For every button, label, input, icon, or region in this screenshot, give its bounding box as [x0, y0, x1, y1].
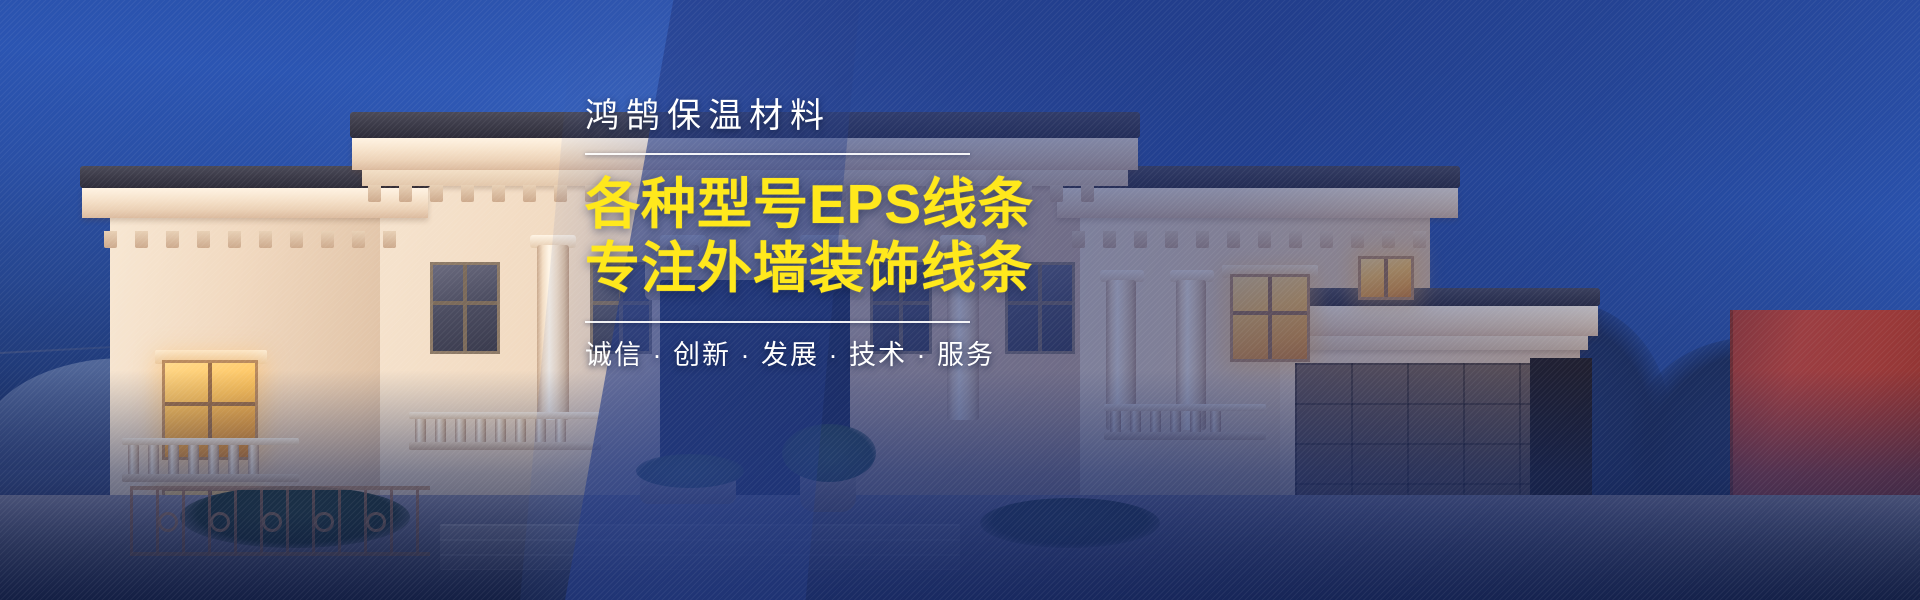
- headline-line-1: 各种型号EPS线条: [585, 173, 1015, 237]
- headline-line-2: 专注外墙装饰线条: [585, 237, 1015, 301]
- divider-top: [585, 153, 970, 155]
- window-dark: [430, 262, 500, 354]
- divider-bottom: [585, 321, 970, 323]
- promotional-banner: 鸿鹄保温材料 各种型号EPS线条 专注外墙装饰线条 诚信 · 创新 · 发展 ·…: [0, 0, 1920, 600]
- dentil-row-left: [104, 231, 396, 248]
- company-slogan: 诚信 · 创新 · 发展 · 技术 · 服务: [585, 339, 1015, 371]
- banner-text-block: 鸿鹄保温材料 各种型号EPS线条 专注外墙装饰线条 诚信 · 创新 · 发展 ·…: [585, 96, 1015, 371]
- brand-name: 鸿鹄保温材料: [585, 96, 1015, 137]
